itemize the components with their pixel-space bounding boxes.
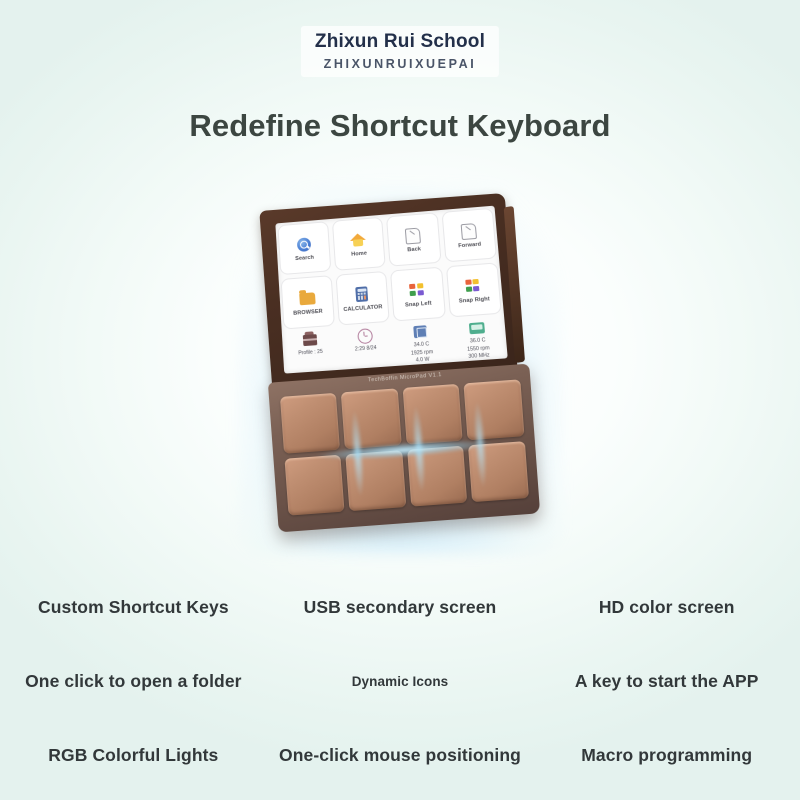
tile-label: Home <box>351 251 367 258</box>
keycap-7[interactable] <box>407 445 468 506</box>
feature-row-2: One click to open a folder Dynamic Icons… <box>0 644 800 718</box>
tile-label: Forward <box>458 242 481 250</box>
profile-icon <box>302 331 317 348</box>
feature-item: One click to open a folder <box>0 671 267 692</box>
feature-row-3: RGB Colorful Lights One-click mouse posi… <box>0 718 800 792</box>
tile-label: Snap Left <box>405 301 432 309</box>
key-grid <box>277 376 532 524</box>
housing-side-edge <box>504 206 525 363</box>
tile-label: Search <box>295 255 314 262</box>
macropad-device: Search Home Back Forward <box>255 192 546 541</box>
status-label: 2:29 8/24 <box>355 345 377 354</box>
status-clock: 2:29 8/24 <box>337 326 394 356</box>
calculator-icon <box>355 284 368 304</box>
feature-row-1: Custom Shortcut Keys USB secondary scree… <box>0 570 800 644</box>
screen-tile-search[interactable]: Search <box>277 221 330 275</box>
feature-item: Custom Shortcut Keys <box>0 597 267 618</box>
status-gpu: 36.0 C 1550 rpm 300 MHz <box>448 318 508 363</box>
status-profile: Profile : 25 <box>282 330 339 359</box>
tile-label: CALCULATOR <box>343 304 383 313</box>
keycap-2[interactable] <box>341 388 402 449</box>
status-cpu: 34.0 C 1925 rpm 4.0 W <box>392 322 451 367</box>
lcd-screen: Search Home Back Forward <box>275 206 507 374</box>
screen-tile-browser[interactable]: BROWSER <box>281 275 335 329</box>
status-label: Profile : 25 <box>298 349 323 358</box>
screen-housing: Search Home Back Forward <box>259 193 518 393</box>
screen-tile-forward[interactable]: Forward <box>441 208 497 263</box>
forward-icon <box>460 221 477 241</box>
keycap-8[interactable] <box>468 441 529 502</box>
status-label: 34.0 C 1925 rpm 4.0 W <box>410 341 434 365</box>
keyboard-housing: TechBoffin MicroPad V1.1 <box>268 364 540 533</box>
tile-label: Back <box>407 246 421 253</box>
clock-icon <box>357 327 373 344</box>
product-photo: Search Home Back Forward <box>255 195 545 540</box>
poster-root: Zhixun Rui School ZHIXUNRUIXUEPAI Redefi… <box>0 0 800 800</box>
keycap-6[interactable] <box>345 450 406 511</box>
tile-label: BROWSER <box>293 309 323 317</box>
tile-label: Snap Right <box>459 296 490 304</box>
feature-item: A key to start the APP <box>533 671 800 692</box>
status-label: 36.0 C 1550 rpm 300 MHz <box>466 337 490 362</box>
screen-tile-snap-left[interactable]: Snap Left <box>390 267 446 322</box>
snap-right-icon <box>465 276 482 296</box>
keycap-1[interactable] <box>279 392 340 453</box>
feature-list: Custom Shortcut Keys USB secondary scree… <box>0 570 800 792</box>
screen-tile-snap-right[interactable]: Snap Right <box>445 262 501 317</box>
feature-item: Dynamic Icons <box>267 674 534 689</box>
screen-tile-calculator[interactable]: CALCULATOR <box>335 271 390 326</box>
keycap-4[interactable] <box>463 379 524 440</box>
feature-item: One-click mouse positioning <box>267 745 534 766</box>
brand-block: Zhixun Rui School ZHIXUNRUIXUEPAI <box>301 26 499 77</box>
brand-name: Zhixun Rui School <box>315 30 485 54</box>
feature-item: USB secondary screen <box>267 597 534 618</box>
back-icon <box>405 226 421 246</box>
keycap-5[interactable] <box>284 454 345 515</box>
brand-pinyin: ZHIXUNRUIXUEPAI <box>315 57 485 71</box>
feature-item: HD color screen <box>533 597 800 618</box>
snap-left-icon <box>409 280 425 300</box>
screen-tile-back[interactable]: Back <box>386 212 441 266</box>
keycap-3[interactable] <box>402 383 463 444</box>
cpu-icon <box>413 323 427 340</box>
page-title: Redefine Shortcut Keyboard <box>0 108 800 144</box>
search-icon <box>296 234 311 254</box>
folder-icon <box>299 288 316 308</box>
home-icon <box>350 230 367 250</box>
gpu-icon <box>468 319 485 336</box>
feature-item: RGB Colorful Lights <box>0 745 267 766</box>
screen-tile-home[interactable]: Home <box>331 217 385 271</box>
feature-item: Macro programming <box>533 745 800 766</box>
